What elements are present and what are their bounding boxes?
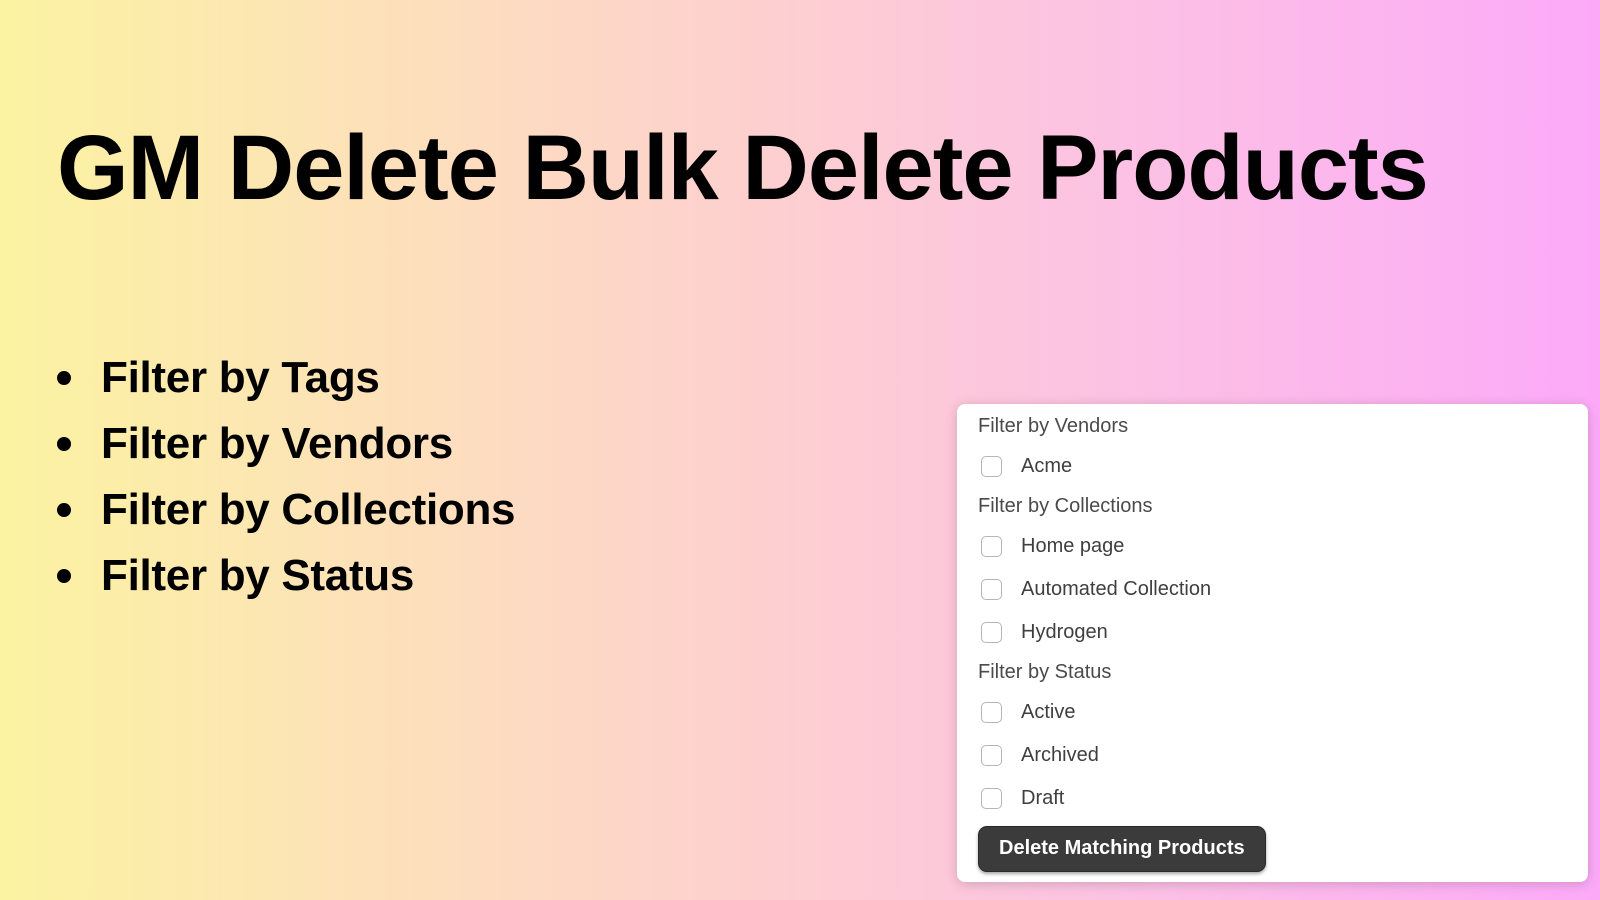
filter-option-label: Draft: [1021, 787, 1064, 810]
filter-option-label: Acme: [1021, 455, 1072, 478]
bullet-dot-icon: [57, 371, 71, 385]
list-item: Filter by Collections: [57, 477, 515, 543]
bullet-dot-icon: [57, 503, 71, 517]
checkbox-icon[interactable]: [981, 788, 1002, 809]
filter-option-draft[interactable]: Draft: [957, 777, 1588, 820]
checkbox-icon[interactable]: [981, 536, 1002, 557]
filter-option-label: Active: [1021, 701, 1075, 724]
checkbox-icon[interactable]: [981, 456, 1002, 477]
checkbox-icon[interactable]: [981, 622, 1002, 643]
page-title: GM Delete Bulk Delete Products: [57, 120, 1428, 217]
bullet-dot-icon: [57, 569, 71, 583]
checkbox-icon[interactable]: [981, 579, 1002, 600]
delete-matching-products-button[interactable]: Delete Matching Products: [978, 826, 1266, 872]
filter-option-label: Home page: [1021, 535, 1124, 558]
group-header-status: Filter by Status: [957, 654, 1588, 691]
filter-option-home-page[interactable]: Home page: [957, 525, 1588, 568]
filter-option-active[interactable]: Active: [957, 691, 1588, 734]
list-item: Filter by Status: [57, 543, 515, 609]
bullet-dot-icon: [57, 437, 71, 451]
filter-option-automated-collection[interactable]: Automated Collection: [957, 568, 1588, 611]
list-item: Filter by Vendors: [57, 411, 515, 477]
filter-option-label: Automated Collection: [1021, 578, 1211, 601]
list-item-label: Filter by Vendors: [101, 419, 453, 469]
checkbox-icon[interactable]: [981, 702, 1002, 723]
filter-panel: Filter by Vendors Acme Filter by Collect…: [957, 404, 1588, 882]
filter-option-label: Hydrogen: [1021, 621, 1108, 644]
list-item-label: Filter by Status: [101, 551, 414, 601]
list-item: Filter by Tags: [57, 345, 515, 411]
filter-option-label: Archived: [1021, 744, 1099, 767]
filter-option-acme[interactable]: Acme: [957, 445, 1588, 488]
checkbox-icon[interactable]: [981, 745, 1002, 766]
group-header-vendors: Filter by Vendors: [957, 408, 1588, 445]
list-item-label: Filter by Collections: [101, 485, 515, 535]
filter-option-archived[interactable]: Archived: [957, 734, 1588, 777]
filter-option-hydrogen[interactable]: Hydrogen: [957, 611, 1588, 654]
feature-bullet-list: Filter by Tags Filter by Vendors Filter …: [57, 345, 515, 609]
list-item-label: Filter by Tags: [101, 353, 380, 403]
group-header-collections: Filter by Collections: [957, 488, 1588, 525]
